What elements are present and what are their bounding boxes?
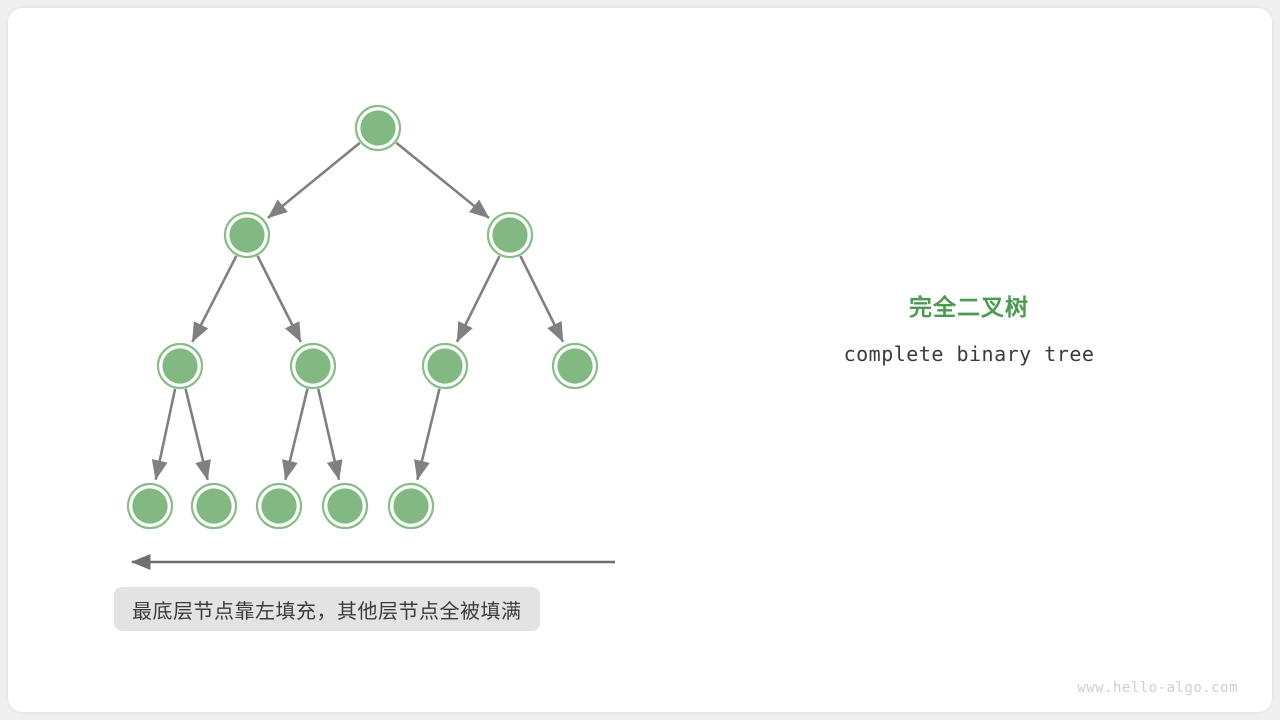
caption-pill: 最底层节点靠左填充，其他层节点全被填满 [114, 587, 540, 631]
tree-type-label-block: 完全二叉树 complete binary tree [790, 292, 1148, 366]
tree-node [553, 344, 597, 388]
tree-edge [268, 143, 360, 218]
tree-node [356, 106, 400, 150]
tree-edge [396, 143, 489, 218]
diagram-page: 完全二叉树 complete binary tree 最底层节点靠左填充，其他层… [0, 0, 1280, 720]
tree-edge [186, 389, 208, 480]
tree-edge [457, 256, 500, 342]
tree-edge [520, 256, 563, 342]
page-title-chinese: 完全二叉树 [790, 292, 1148, 322]
tree-node [192, 484, 236, 528]
tree-node [488, 213, 532, 257]
tree-node [423, 344, 467, 388]
caption-label: 最底层节点靠左填充，其他层节点全被填满 [132, 595, 522, 624]
tree-edge [417, 389, 439, 480]
tree-node [257, 484, 301, 528]
tree-node [158, 344, 202, 388]
tree-edge [318, 389, 339, 480]
tree-nodes [128, 106, 597, 528]
site-watermark: www.hello-algo.com [1077, 680, 1238, 696]
tree-edges [156, 143, 563, 480]
tree-edge [258, 256, 301, 342]
page-title-english: complete binary tree [790, 342, 1148, 366]
tree-edge [285, 389, 307, 480]
tree-edge [192, 256, 236, 342]
tree-node [225, 213, 269, 257]
tree-node [291, 344, 335, 388]
tree-node [323, 484, 367, 528]
tree-edge [156, 389, 175, 480]
tree-node [389, 484, 433, 528]
tree-node [128, 484, 172, 528]
